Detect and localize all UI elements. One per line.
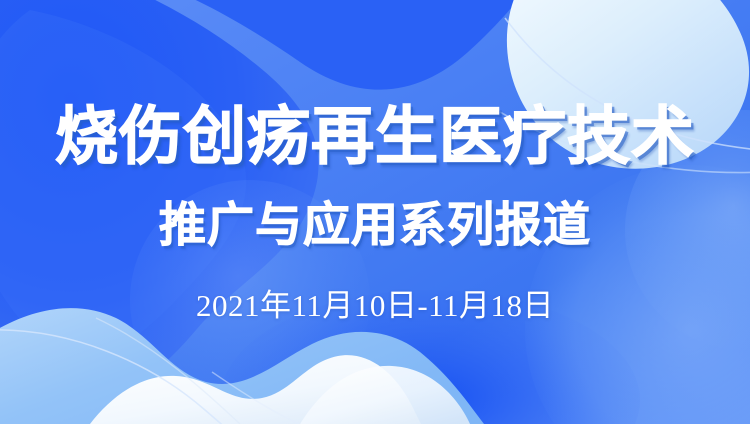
event-banner: 烧伤创疡再生医疗技术 推广与应用系列报道 2021年11月10日-11月18日 [0,0,750,424]
banner-title-sub: 推广与应用系列报道 [0,200,750,253]
banner-title-main: 烧伤创疡再生医疗技术 [0,103,750,171]
banner-date-range: 2021年11月10日-11月18日 [0,280,750,325]
banner-content: 烧伤创疡再生医疗技术 推广与应用系列报道 2021年11月10日-11月18日 [0,0,750,424]
